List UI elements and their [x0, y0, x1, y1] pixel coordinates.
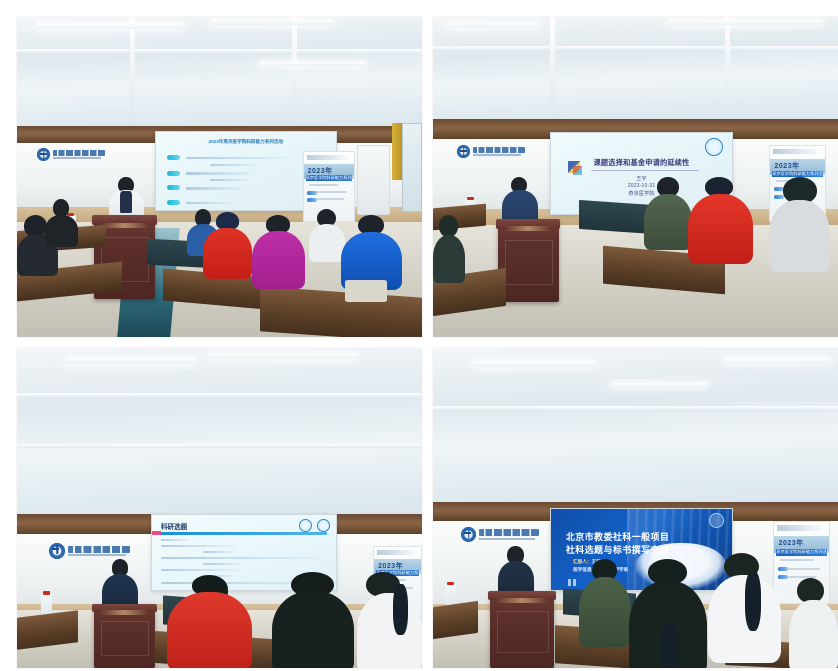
podium-panel [497, 611, 548, 653]
ponytail [393, 584, 407, 636]
ceiling-beam [17, 49, 422, 54]
university-seal-icon [37, 148, 50, 161]
photo-top-right: 课题选择和基金申请的延续性 王宇 2023-10-31 燕京医学院 2023年 … [433, 17, 838, 337]
torso-dark [45, 215, 77, 247]
ceiling-beam [550, 17, 555, 119]
slide-header: 科研选题 [161, 521, 187, 531]
banner-year: 2023年 [779, 538, 804, 548]
audience-member-red [688, 177, 753, 260]
ceiling-light [37, 23, 183, 29]
ponytail [745, 571, 761, 630]
photo-bottom-right: 北京市教委社科一般项目 社科选题与标书撰写交流 汇报人：王亚明 医学信息技术与管… [433, 348, 838, 668]
university-emblem-icon [299, 519, 312, 532]
ceiling-beam [725, 17, 730, 119]
slide-subline [210, 179, 250, 181]
audience-member [433, 215, 465, 279]
slide-accent-pink [152, 531, 161, 535]
torso-red-hoodie [688, 194, 753, 264]
podium-plate-text [496, 598, 548, 603]
ceiling-light [725, 358, 830, 363]
torso-red-hoodie [167, 592, 252, 668]
ceiling-light [611, 383, 708, 387]
banner-header [777, 525, 825, 531]
photo-bottom-left: 科研选题 2023年 燕京医学院科研能力系列活动 [17, 348, 422, 668]
lower-body [345, 280, 388, 302]
banner-header [307, 155, 352, 160]
ceiling-beam [433, 46, 838, 51]
ceiling-beam [130, 17, 135, 126]
bottle-cap [447, 582, 454, 586]
window [402, 123, 422, 213]
torso-green-jacket [644, 194, 693, 250]
ceiling-beam [433, 406, 838, 411]
torso-white [309, 224, 345, 262]
audience-member-purple [252, 215, 305, 285]
university-seal-icon [49, 543, 65, 559]
university-name-cn [479, 529, 539, 536]
ceiling-light [668, 20, 822, 25]
desk-row [433, 601, 478, 639]
banner-list-line [316, 191, 347, 193]
torso-dark [433, 235, 465, 284]
ceiling [17, 17, 422, 126]
podium-plate-text [100, 223, 149, 228]
slide-bullet-text [186, 187, 240, 190]
podium-panel [101, 621, 149, 656]
ceiling-light [66, 358, 196, 364]
college-emblem-icon [317, 519, 330, 532]
university-name-cn [473, 147, 525, 153]
ceiling-light [260, 62, 365, 66]
slide-bullet-text [186, 172, 251, 175]
torso-red-hoodie [203, 228, 252, 279]
audience-member [644, 177, 693, 247]
banner-header [773, 149, 821, 154]
university-name-en [479, 538, 535, 540]
slide-title: 2023年燕京医学院科研能力系列活动 [156, 139, 336, 145]
head [439, 215, 458, 237]
audience-member [357, 572, 422, 668]
university-logo-text [68, 546, 130, 557]
audience-member-red [203, 212, 252, 276]
slide-title-line-2: 社科选题与标书撰写交流 [566, 543, 669, 556]
audience-member [45, 199, 77, 244]
slide-subline [210, 164, 257, 166]
speaker-inner-top [120, 191, 132, 213]
audience-member [789, 578, 838, 668]
wall-logo [37, 148, 105, 161]
air-conditioner [357, 145, 389, 215]
torso-grey [769, 200, 830, 272]
ponytail [660, 622, 678, 668]
banner-year: 2023年 [775, 161, 800, 171]
banner-footer [309, 184, 338, 186]
bottle-cap [467, 197, 473, 200]
slide-bullet-text [186, 202, 229, 205]
university-name-cn [68, 546, 130, 553]
podium [490, 591, 555, 668]
speaker [102, 559, 138, 610]
slide-decoration-icon [573, 166, 582, 175]
ceiling [433, 348, 838, 502]
banner-subtitle: 燕京医学院科研能力系列活动 [306, 176, 353, 181]
audience-member-red [167, 575, 252, 668]
university-emblem-icon [705, 138, 723, 156]
slide-divider [591, 170, 699, 171]
audience-member [708, 553, 781, 655]
podium [498, 219, 559, 302]
slide-title-line-1: 北京市教委社科一般项目 [566, 530, 669, 543]
slide-bullet-marker [167, 171, 180, 176]
university-name-en [68, 554, 126, 556]
ceiling-spot-icon [203, 75, 209, 79]
ceiling-beam [17, 444, 422, 448]
slide-body-line [161, 557, 319, 559]
slide-body-line [203, 551, 236, 553]
ceiling-light [211, 354, 357, 359]
audience-member [309, 209, 345, 260]
ceiling-light [449, 23, 538, 28]
podium [94, 604, 155, 668]
podium-plate-text [100, 610, 149, 615]
slide-body-line [203, 563, 240, 565]
speaker [502, 177, 538, 225]
torso-purple-jacket [252, 231, 305, 289]
university-seal-icon [457, 145, 470, 158]
slide-accent-bar [161, 532, 327, 535]
university-name-en [473, 154, 521, 156]
audience-member [579, 559, 632, 642]
bottle-cap [43, 591, 50, 595]
torso-green-jacket [579, 577, 632, 647]
slide-bullet-marker [167, 185, 180, 190]
slide-body-line [161, 545, 235, 547]
slide-bullet-text [186, 157, 287, 160]
podium-plate-text [504, 226, 553, 231]
audience-member [769, 177, 830, 267]
ceiling [433, 17, 838, 119]
torso-white-coat [357, 593, 422, 668]
audience-member-blue [341, 215, 402, 298]
university-logo-text [479, 529, 539, 540]
photo-collage: 2023年燕京医学院科研能力系列活动 2023年 燕京医学院科研能力系列活动 [0, 0, 838, 671]
banner-header [377, 550, 418, 555]
wall-logo [461, 527, 539, 542]
university-logo-text [53, 150, 105, 160]
photo-top-left: 2023年燕京医学院科研能力系列活动 2023年 燕京医学院科研能力系列活动 [17, 17, 422, 337]
torso-dark-hair [272, 591, 354, 668]
audience-member [268, 572, 357, 668]
banner-list-line [788, 568, 820, 570]
university-logo-text [473, 147, 525, 157]
slide-body-line [161, 539, 190, 541]
slide-bullet-marker [167, 200, 180, 205]
wall-logo [457, 145, 525, 158]
university-name-cn [53, 150, 105, 156]
banner-footer [780, 559, 814, 561]
university-seal-icon [461, 527, 476, 542]
slide-quote-mark-icon [568, 579, 576, 586]
desk-row [17, 610, 78, 649]
slide-bullet-marker [167, 155, 180, 160]
podium-panel [505, 240, 553, 285]
speaker [498, 546, 534, 597]
banner-subtitle: 燕京医学院科研能力系列活动 [776, 550, 826, 555]
torso-white [789, 600, 838, 668]
ceiling-light [211, 20, 333, 25]
banner-list-line [316, 198, 344, 200]
ceiling-beam [292, 17, 297, 126]
ceiling-beam [17, 393, 422, 398]
slide-body-line [161, 569, 238, 571]
wall-logo [49, 543, 130, 559]
ceiling [17, 348, 422, 514]
ceiling-light [474, 361, 596, 367]
banner-subtitle: 燕京医学院科研能力系列活动 [772, 172, 822, 177]
university-name-en [53, 157, 101, 159]
audience-member [627, 559, 708, 668]
